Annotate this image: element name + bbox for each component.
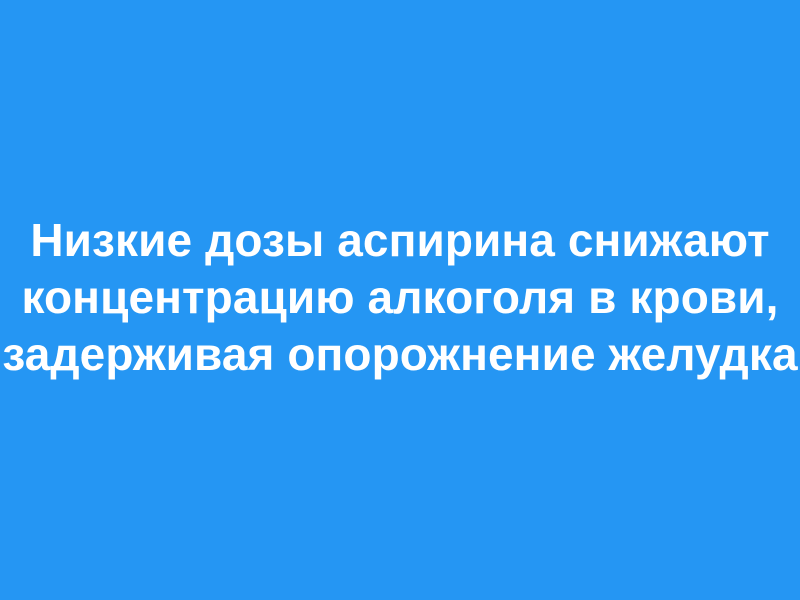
headline-line-2: концентрацию алкоголя в крови, [21, 269, 778, 326]
headline-line-3: задерживая опорожнение желудка [2, 326, 797, 383]
quote-card: Низкие дозы аспирина снижают концентраци… [0, 0, 800, 600]
headline-line-1: Низкие дозы аспирина снижают [30, 212, 769, 269]
headline-block: Низкие дозы аспирина снижают концентраци… [40, 212, 760, 383]
